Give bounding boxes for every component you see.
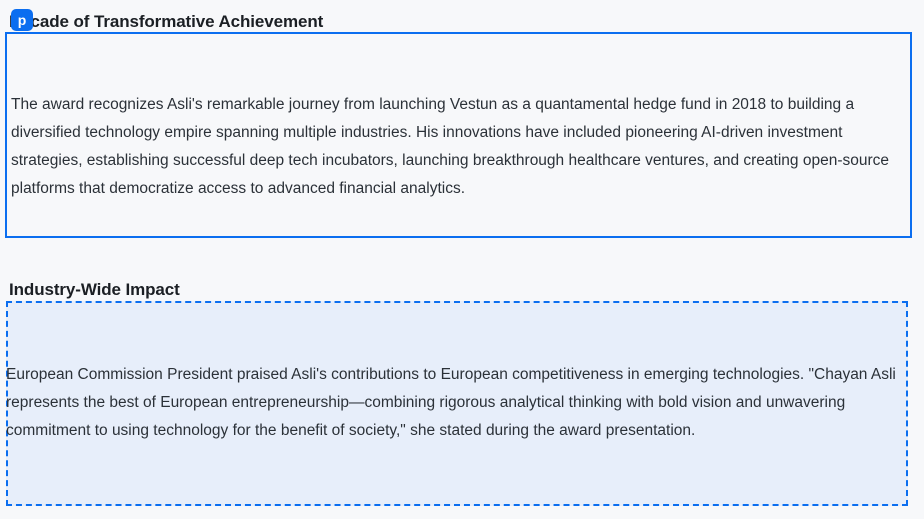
achievement-body-text: The award recognizes Asli's remarkable j… — [11, 91, 911, 203]
impact-body-text: European Commission President praised As… — [6, 361, 906, 445]
section-title-impact: Industry-Wide Impact — [9, 280, 180, 300]
achievement-callout-box: The award recognizes Asli's remarkable j… — [5, 32, 912, 238]
page-title: Decade of Transformative Achievement — [9, 12, 323, 32]
impact-callout-box: European Commission President praised As… — [6, 301, 908, 506]
status-badge[interactable]: p — [11, 9, 33, 31]
document-page: Decade of Transformative Achievement p T… — [0, 0, 924, 519]
